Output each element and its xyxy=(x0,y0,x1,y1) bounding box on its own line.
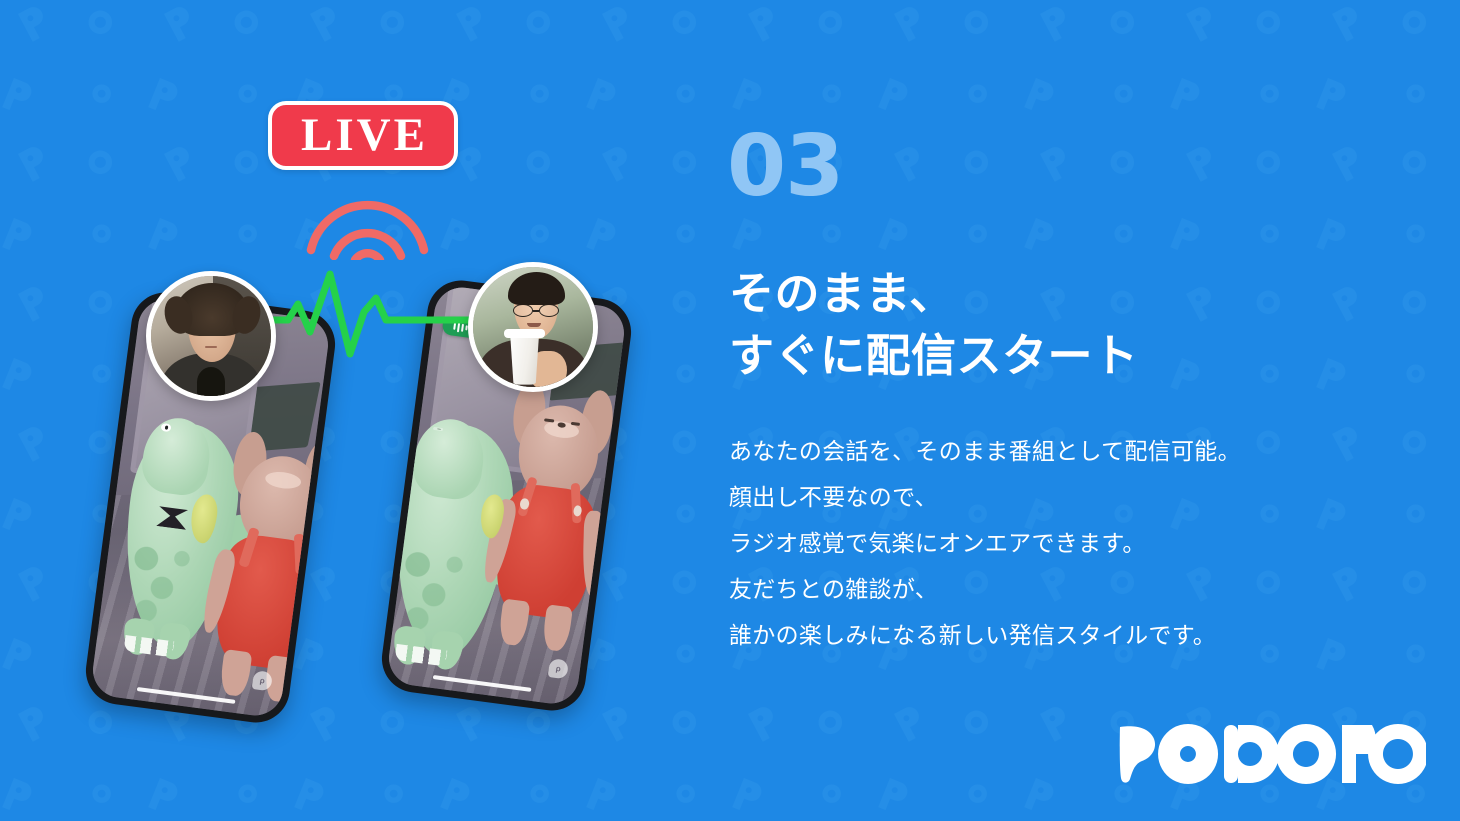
dino-eye xyxy=(433,427,444,431)
heartbeat-pulse-icon xyxy=(252,268,482,358)
body-line-3: ラジオ感覚で気楽にオンエアできます。 xyxy=(729,520,1369,566)
wifi-waves-icon xyxy=(305,190,430,260)
product-visual: LIVE xyxy=(0,0,680,821)
bear-arm xyxy=(306,561,329,646)
step-number: 03 xyxy=(727,124,843,209)
body-line-1: あなたの会話を、そのまま番組として配信可能。 xyxy=(729,428,1369,474)
avatar-photo xyxy=(151,276,271,396)
body-line-5: 誰かの楽しみになる新しい発信スタイルです。 xyxy=(729,612,1369,658)
avatar-photo xyxy=(473,267,593,387)
body-line-2: 顔出し不要なので、 xyxy=(729,474,1369,520)
bear-muzzle xyxy=(265,470,303,491)
headline-line-1: そのまま、 xyxy=(729,263,1349,325)
body-line-4: 友だちとの雑談が、 xyxy=(729,566,1369,612)
slide-canvas: LIVE xyxy=(0,0,1460,821)
bear-strap xyxy=(571,483,582,523)
bear-arm xyxy=(583,510,605,595)
bear-strap xyxy=(293,534,304,574)
dino-eye xyxy=(161,423,172,433)
bear-leg xyxy=(541,604,573,652)
live-badge: LIVE xyxy=(268,101,458,170)
text-column: 03 そのまま、 すぐに配信スタート あなたの会話を、そのまま番組として配信可能… xyxy=(727,0,1460,821)
bear-leg xyxy=(498,599,530,647)
live-badge-label: LIVE xyxy=(298,112,428,159)
bear-eye xyxy=(544,419,554,422)
body-copy: あなたの会話を、そのまま番組として配信可能。 顔出し不要なので、 ラジオ感覚で気… xyxy=(729,428,1369,658)
popopo-wordmark-logo xyxy=(1110,721,1426,787)
participant-a-photo xyxy=(146,271,276,401)
headline-line-2: すぐに配信スタート xyxy=(729,325,1349,387)
page-title: そのまま、 すぐに配信スタート xyxy=(729,263,1349,386)
bear-leg xyxy=(219,649,252,697)
participant-b-photo xyxy=(468,262,598,392)
